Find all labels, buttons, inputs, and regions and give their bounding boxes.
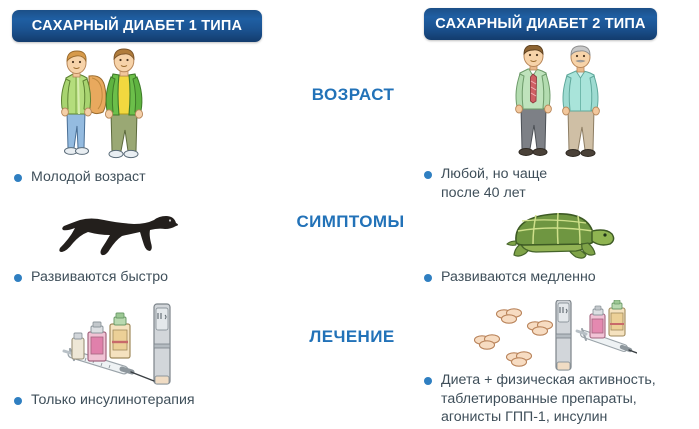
- bullet-left-treatment: Только инсулинотерапия: [14, 391, 264, 410]
- green-turtle-illustration: [500, 203, 620, 265]
- bullet-right-age: Любой, но чаще после 40 лет: [424, 165, 664, 202]
- two-older-men-illustration: [500, 45, 615, 165]
- banner-diabetes-type-1: САХАРНЫЙ ДИАБЕТ 1 ТИПА: [12, 10, 262, 42]
- section-label-age: ВОЗРАСТ: [278, 85, 428, 105]
- bullet-right-symptoms-text: Развиваются медленно: [441, 268, 596, 287]
- bullet-left-treatment-text: Только инсулинотерапия: [31, 391, 195, 410]
- pills-insulin-pen-syringe-illustration: [472, 300, 637, 372]
- bullet-dot-icon: [14, 274, 22, 282]
- bullet-left-symptoms-text: Развиваются быстро: [31, 268, 168, 287]
- bullet-dot-icon: [424, 377, 432, 385]
- section-label-treatment: ЛЕЧЕНИЕ: [272, 327, 432, 347]
- insulin-syringe-vials-pen-illustration: [62, 302, 187, 390]
- bullet-right-age-text: Любой, но чаще после 40 лет: [441, 165, 547, 202]
- bullet-right-symptoms: Развиваются медленно: [424, 268, 674, 287]
- bullet-dot-icon: [424, 274, 432, 282]
- running-black-panther-illustration: [58, 207, 183, 263]
- section-label-symptoms: СИМПТОМЫ: [263, 212, 438, 232]
- bullet-dot-icon: [14, 174, 22, 182]
- bullet-left-symptoms: Развиваются быстро: [14, 268, 244, 287]
- bullet-left-age: Молодой возраст: [14, 168, 244, 187]
- banner-type-2-label: САХАРНЫЙ ДИАБЕТ 2 ТИПА: [435, 16, 645, 32]
- banner-diabetes-type-2: САХАРНЫЙ ДИАБЕТ 2 ТИПА: [424, 8, 657, 40]
- bullet-right-treatment-text: Диета + физическая активность, таблетиро…: [441, 371, 656, 427]
- banner-type-1-label: САХАРНЫЙ ДИАБЕТ 1 ТИПА: [32, 18, 242, 34]
- bullet-dot-icon: [14, 397, 22, 405]
- infographic-canvas: САХАРНЫЙ ДИАБЕТ 1 ТИПА САХАРНЫЙ ДИАБЕТ 2…: [0, 0, 699, 429]
- two-young-men-illustration: [45, 48, 160, 166]
- bullet-right-treatment: Диета + физическая активность, таблетиро…: [424, 371, 699, 427]
- bullet-dot-icon: [424, 171, 432, 179]
- bullet-left-age-text: Молодой возраст: [31, 168, 146, 187]
